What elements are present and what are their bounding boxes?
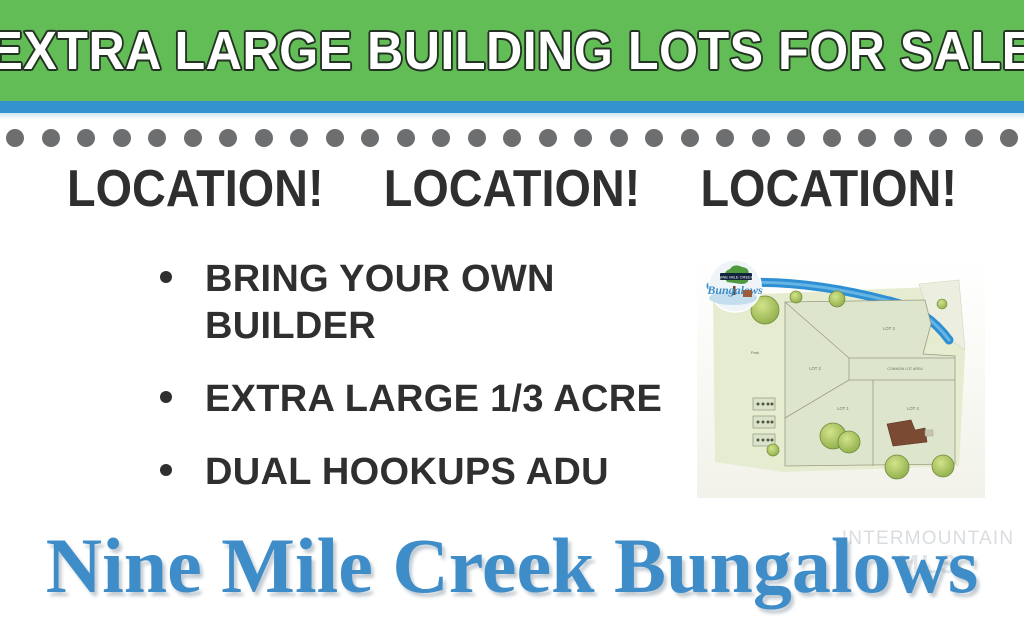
divider-dot <box>787 129 805 147</box>
blue-fade-gradient <box>0 113 1024 120</box>
divider-dot <box>503 129 521 147</box>
divider-dot <box>113 129 131 147</box>
bullet-dot-icon <box>160 391 172 403</box>
logo-house-icon <box>743 290 752 297</box>
divider-dot <box>255 129 273 147</box>
divider-dot <box>858 129 876 147</box>
divider-dot <box>610 129 628 147</box>
divider-dot <box>681 129 699 147</box>
page-title: LOCATION! LOCATION! LOCATION! <box>51 160 973 218</box>
logo-script-text: Bungalows <box>706 283 763 297</box>
banner-headline: EXTRA LARGE BUILDING LOTS FOR SALE <box>0 24 1024 78</box>
parcel-block <box>785 300 955 466</box>
divider-dot <box>645 129 663 147</box>
divider-dot <box>468 129 486 147</box>
bullet-dot-icon <box>160 271 172 283</box>
divider-dot <box>929 129 947 147</box>
divider-dot <box>397 129 415 147</box>
real-estate-flyer: EXTRA LARGE BUILDING LOTS FOR SALE LOCAT… <box>0 0 1024 617</box>
divider-dot <box>823 129 841 147</box>
feature-label: BRING YOUR OWN BUILDER <box>205 256 700 350</box>
parking-strips <box>753 398 775 446</box>
bullet-dot-icon <box>160 464 172 476</box>
list-item: BRING YOUR OWN BUILDER <box>160 256 700 350</box>
project-name-title: Nine Mile Creek Bungalows <box>0 520 1024 612</box>
feature-label: EXTRA LARGE 1/3 ACRE <box>205 376 662 423</box>
divider-dot <box>894 129 912 147</box>
logo-banner-text: NINE MILE CREEK <box>719 274 754 279</box>
divider-dot <box>1000 129 1018 147</box>
divider-dot <box>42 129 60 147</box>
divider-dot <box>77 129 95 147</box>
lot-label-4: LOT 3 <box>883 326 895 331</box>
park-label: Park <box>751 350 759 355</box>
divider-dot <box>148 129 166 147</box>
top-banner: EXTRA LARGE BUILDING LOTS FOR SALE <box>0 0 1024 101</box>
divider-dot <box>965 129 983 147</box>
location-word-3: LOCATION! <box>700 160 956 218</box>
divider-dot <box>6 129 24 147</box>
site-plan-svg: LOT 3 LOT 2 LOT 1 LOT 4 COMMON LOT AREA … <box>697 258 985 498</box>
blue-divider-stripe <box>0 101 1024 113</box>
divider-dot <box>539 129 557 147</box>
divider-dot <box>432 129 450 147</box>
divider-dot <box>752 129 770 147</box>
feature-label: DUAL HOOKUPS ADU <box>205 449 609 496</box>
dot-divider <box>0 127 1024 149</box>
lot-label-1: LOT 4 <box>907 406 919 411</box>
divider-dot <box>716 129 734 147</box>
lot-label-3: LOT 2 <box>809 366 821 371</box>
divider-dot <box>219 129 237 147</box>
divider-dot <box>361 129 379 147</box>
list-item: DUAL HOOKUPS ADU <box>160 449 700 496</box>
list-item: EXTRA LARGE 1/3 ACRE <box>160 376 700 423</box>
divider-dot <box>574 129 592 147</box>
location-word-1: LOCATION! <box>67 160 323 218</box>
divider-dot <box>290 129 308 147</box>
site-plan-image: LOT 3 LOT 2 LOT 1 LOT 4 COMMON LOT AREA … <box>697 258 985 498</box>
lot-label-common: COMMON LOT AREA <box>887 367 923 371</box>
divider-dot <box>326 129 344 147</box>
location-word-2: LOCATION! <box>384 160 640 218</box>
divider-dot <box>184 129 202 147</box>
lot-label-2: LOT 1 <box>837 406 849 411</box>
feature-list: BRING YOUR OWN BUILDER EXTRA LARGE 1/3 A… <box>160 256 700 496</box>
